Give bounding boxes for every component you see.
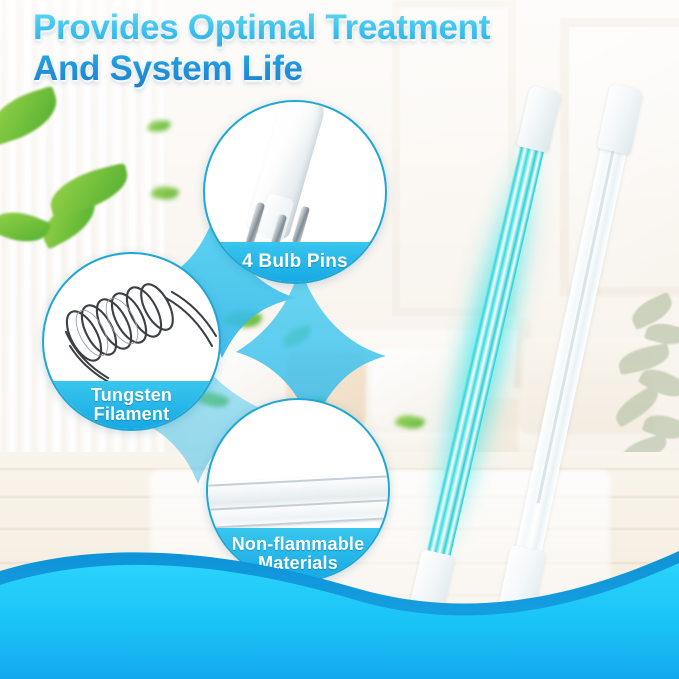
product-feature-poster: 4 Bulb Pins (0, 0, 679, 679)
feature-circle-tungsten-filament[interactable]: Tungsten Filament (42, 252, 221, 431)
feature-label-tungsten-filament: Tungsten Filament (44, 381, 219, 429)
feature-circle-bulb-pins[interactable]: 4 Bulb Pins (203, 100, 387, 284)
wave-front-layer (0, 563, 679, 679)
feature-label-bulb-pins: 4 Bulb Pins (205, 242, 385, 282)
page-title: Provides Optimal Treatment And System Li… (33, 8, 490, 90)
bottom-wave-decoration (0, 529, 679, 679)
